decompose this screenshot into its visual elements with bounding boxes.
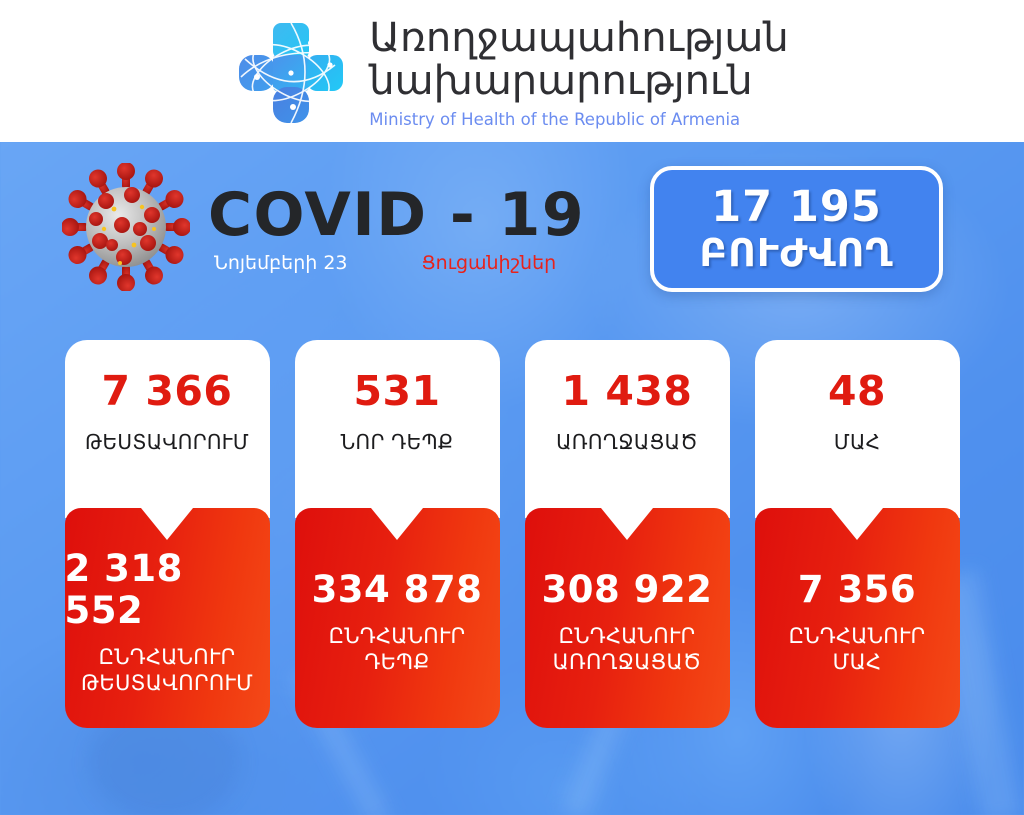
statistics-card-row: 7 366 ԹԵՍՏԱՎՈՐՈՒՄ 2 318 552 ԸՆԴՀԱՆՈՒՐ ԹԵ… — [0, 340, 1024, 730]
covid-heading-block: COVID - 19 Նոյեմբերի 23 Ցուցանիշներ — [208, 180, 585, 274]
total-label: ԸՆԴՀԱՆՈՒՐ ԴԵՊՔ — [329, 623, 466, 675]
total-panel: 7 356 ԸՆԴՀԱՆՈՒՐ ՄԱՀ — [755, 508, 960, 728]
total-panel: 308 922 ԸՆԴՀԱՆՈՒՐ ԱՌՈՂՋԱՑԱԾ — [525, 508, 730, 728]
treated-label: ԲՈՒԺՎՈՂ — [699, 231, 893, 275]
ministry-name-line-2: նախարարություն — [369, 60, 788, 103]
total-value: 7 356 — [798, 569, 916, 611]
daily-value: 531 — [353, 368, 440, 414]
daily-panel: 7 366 ԹԵՍՏԱՎՈՐՈՒՄ — [65, 340, 270, 518]
stat-card-deaths: 48 ՄԱՀ 7 356 ԸՆԴՀԱՆՈՒՐ ՄԱՀ — [755, 340, 960, 728]
covid-title-row: COVID - 19 Նոյեմբերի 23 Ցուցանիշներ — [62, 158, 582, 296]
daily-label: ՆՈՐ ԴԵՊՔ — [341, 430, 454, 454]
ministry-name-english: Ministry of Health of the Republic of Ar… — [369, 110, 788, 130]
daily-panel: 1 438 ԱՌՈՂՋԱՑԱԾ — [525, 340, 730, 518]
stat-card-new-cases: 531 ՆՈՐ ԴԵՊՔ 334 878 ԸՆԴՀԱՆՈՒՐ ԴԵՊՔ — [295, 340, 500, 728]
stat-card-testing: 7 366 ԹԵՍՏԱՎՈՐՈՒՄ 2 318 552 ԸՆԴՀԱՆՈՒՐ ԹԵ… — [65, 340, 270, 728]
stat-card-recovered: 1 438 ԱՌՈՂՋԱՑԱԾ 308 922 ԸՆԴՀԱՆՈՒՐ ԱՌՈՂՋԱ… — [525, 340, 730, 728]
daily-value: 7 366 — [102, 368, 233, 414]
coronavirus-icon — [62, 163, 190, 291]
daily-label: ԱՌՈՂՋԱՑԱԾ — [556, 430, 698, 454]
currently-treated-badge: 17 195 ԲՈՒԺՎՈՂ — [650, 166, 943, 292]
indicators-label: Ցուցանիշներ — [422, 252, 557, 274]
daily-value: 48 — [828, 368, 886, 414]
covid-statistics-poster: Առողջապահության նախարարություն Ministry … — [0, 0, 1024, 815]
total-label: ԸՆԴՀԱՆՈՒՐ ԱՌՈՂՋԱՑԱԾ — [553, 623, 702, 675]
notch-shape — [371, 508, 423, 540]
daily-label: ՄԱՀ — [834, 430, 880, 454]
total-label: ԸՆԴՀԱՆՈՒՐ ՄԱՀ — [789, 623, 926, 675]
total-panel: 2 318 552 ԸՆԴՀԱՆՈՒՐ ԹԵՍՏԱՎՈՐՈՒՄ — [65, 508, 270, 728]
covid-heading: COVID - 19 — [208, 184, 585, 246]
ministry-header: Առողջապահության նախարարություն Ministry … — [0, 0, 1024, 142]
treated-count: 17 195 — [711, 184, 882, 231]
total-value: 2 318 552 — [65, 548, 270, 632]
notch-shape — [601, 508, 653, 540]
ministry-name-line-1: Առողջապահության — [369, 17, 788, 60]
covid-subheading-row: Նոյեմբերի 23 Ցուցանիշներ — [208, 252, 585, 274]
medical-cross-network-logo-icon — [235, 15, 347, 127]
notch-shape — [141, 508, 193, 540]
report-date: Նոյեմբերի 23 — [214, 252, 348, 274]
daily-panel: 48 ՄԱՀ — [755, 340, 960, 518]
daily-panel: 531 ՆՈՐ ԴԵՊՔ — [295, 340, 500, 518]
daily-value: 1 438 — [562, 368, 693, 414]
total-label: ԸՆԴՀԱՆՈՒՐ ԹԵՍՏԱՎՈՐՈՒՄ — [81, 644, 253, 696]
total-panel: 334 878 ԸՆԴՀԱՆՈՒՐ ԴԵՊՔ — [295, 508, 500, 728]
total-value: 334 878 — [312, 569, 483, 611]
ministry-title-block: Առողջապահության նախարարություն Ministry … — [369, 13, 788, 130]
notch-shape — [831, 508, 883, 540]
total-value: 308 922 — [542, 569, 713, 611]
daily-label: ԹԵՍՏԱՎՈՐՈՒՄ — [85, 430, 249, 454]
